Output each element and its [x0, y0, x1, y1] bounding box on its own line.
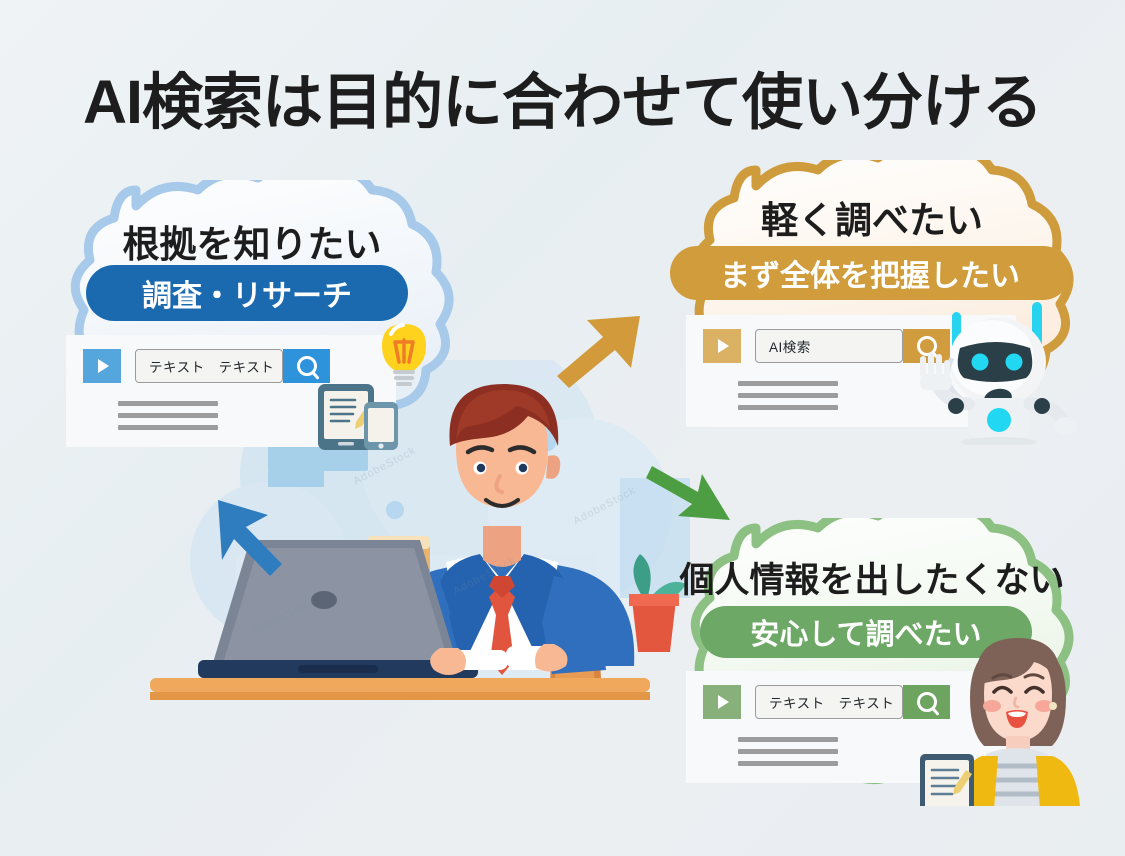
cloud-research: 根拠を知りたい 調査・リサーチ テキスト テキスト: [18, 180, 486, 468]
search-icon[interactable]: [283, 349, 330, 383]
tablet-phone-icon: [316, 382, 402, 452]
cloud-research-heading: 根拠を知りたい: [18, 214, 486, 268]
play-icon[interactable]: [703, 329, 741, 363]
result-lines: [738, 381, 838, 417]
infographic-canvas: AI検索は目的に合わせて使い分ける: [0, 0, 1125, 856]
cloud-overview: 軽く調べたい まず全体を把握したい AI検索: [638, 160, 1106, 448]
cloud-privacy: 個人情報を出したくない 安心して調べたい テキスト テキスト: [638, 518, 1106, 806]
play-icon[interactable]: [703, 685, 741, 719]
cloud-overview-heading: 軽く調べたい: [638, 190, 1106, 244]
privacy-search-row: テキスト テキスト: [703, 685, 950, 719]
research-search-input[interactable]: テキスト テキスト: [135, 349, 283, 383]
cloud-overview-pill: まず全体を把握したい: [670, 246, 1070, 300]
privacy-search-input[interactable]: テキスト テキスト: [755, 685, 903, 719]
robot-icon: [894, 300, 1084, 445]
play-icon[interactable]: [83, 349, 121, 383]
cloud-research-pill-label: 調査・リサーチ: [142, 271, 352, 315]
cloud-privacy-heading: 個人情報を出したくない: [638, 552, 1106, 603]
result-lines: [118, 401, 218, 437]
cloud-research-pill: 調査・リサーチ: [86, 265, 408, 321]
result-lines: [738, 737, 838, 773]
overview-search-input[interactable]: AI検索: [755, 329, 903, 363]
research-search-row: テキスト テキスト: [83, 349, 330, 383]
page-title: AI検索は目的に合わせて使い分ける: [0, 52, 1125, 141]
arrow-to-research: [190, 480, 310, 590]
cloud-overview-pill-label: まず全体を把握したい: [720, 251, 1020, 295]
woman-tablet-icon: [920, 636, 1105, 806]
